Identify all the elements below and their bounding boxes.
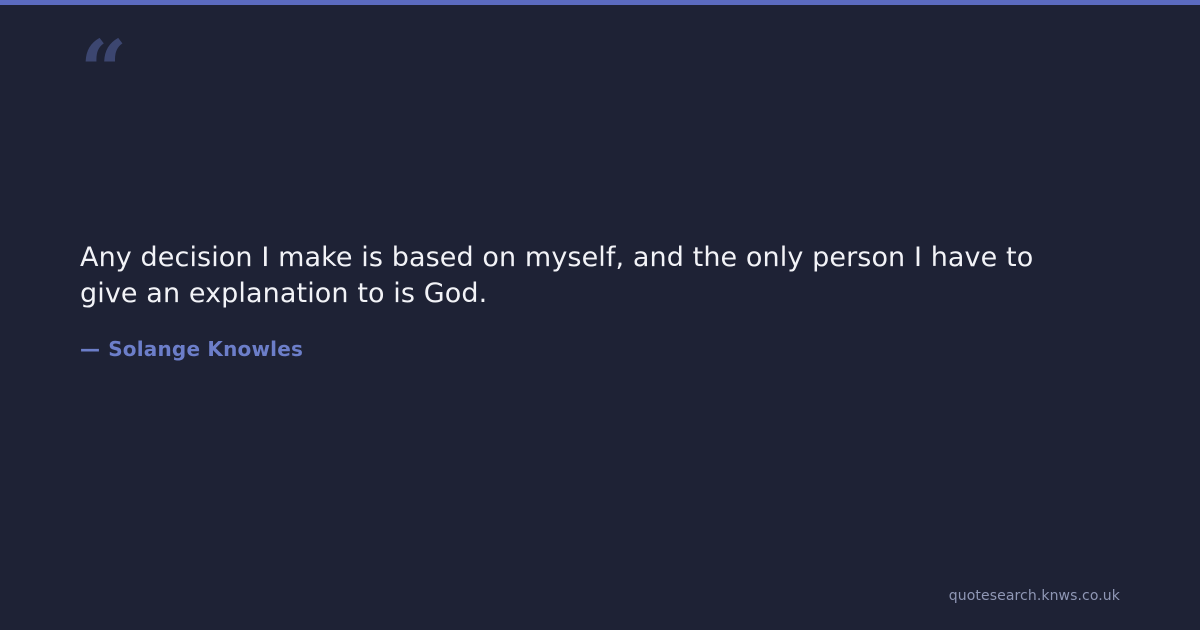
attribution-dash: — — [80, 337, 100, 361]
attribution: —Solange Knowles — [80, 337, 303, 361]
quotation-mark-icon: “ — [80, 30, 127, 112]
quote-text: Any decision I make is based on myself, … — [80, 240, 1090, 312]
site-url: quotesearch.knws.co.uk — [949, 588, 1120, 604]
quote-card: “ Any decision I make is based on myself… — [0, 0, 1200, 630]
top-accent-rule — [0, 0, 1200, 5]
author-name: Solange Knowles — [108, 337, 303, 361]
